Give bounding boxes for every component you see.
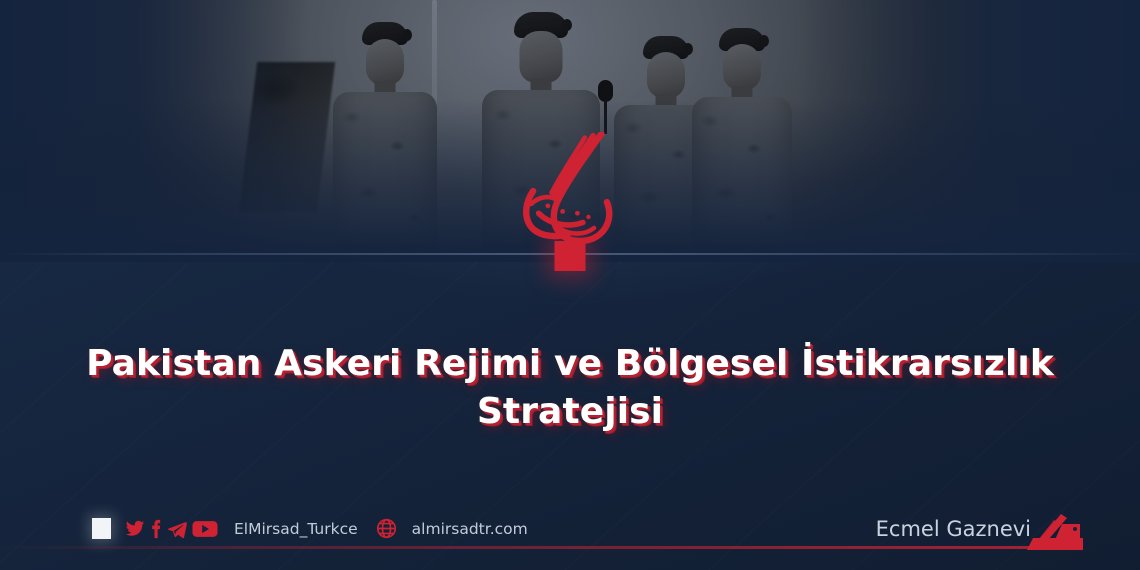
globe-icon: [376, 518, 397, 539]
twitter-icon[interactable]: [124, 519, 146, 539]
news-card: Pakistan Askeri Rejimi ve Bölgesel İstik…: [0, 0, 1140, 570]
website-url[interactable]: almirsadtr.com: [412, 520, 528, 538]
social-icon-group: [124, 519, 218, 539]
al-mirsad-logo: [505, 132, 635, 252]
page-title: Pakistan Askeri Rejimi ve Bölgesel İstik…: [0, 340, 1140, 436]
title-line-2: Stratejisi: [70, 388, 1070, 436]
youtube-icon[interactable]: [192, 519, 218, 539]
title-line-1: Pakistan Askeri Rejimi ve Bölgesel İstik…: [70, 340, 1070, 388]
brand-white-square: [92, 518, 111, 539]
author-name: Ecmel Gaznevi: [876, 517, 1031, 541]
logo-red-square: [555, 241, 586, 271]
footer-social-bar: ElMirsad_Turkce almirsadtr.com: [92, 518, 528, 539]
writing-hand-pen-icon: [1034, 512, 1082, 546]
author-byline: Ecmel Gaznevi: [876, 512, 1082, 546]
byline-underline: [0, 546, 1083, 549]
facebook-icon[interactable]: [149, 519, 163, 539]
social-handle: ElMirsad_Turkce: [234, 520, 358, 538]
telegram-icon[interactable]: [166, 519, 189, 539]
